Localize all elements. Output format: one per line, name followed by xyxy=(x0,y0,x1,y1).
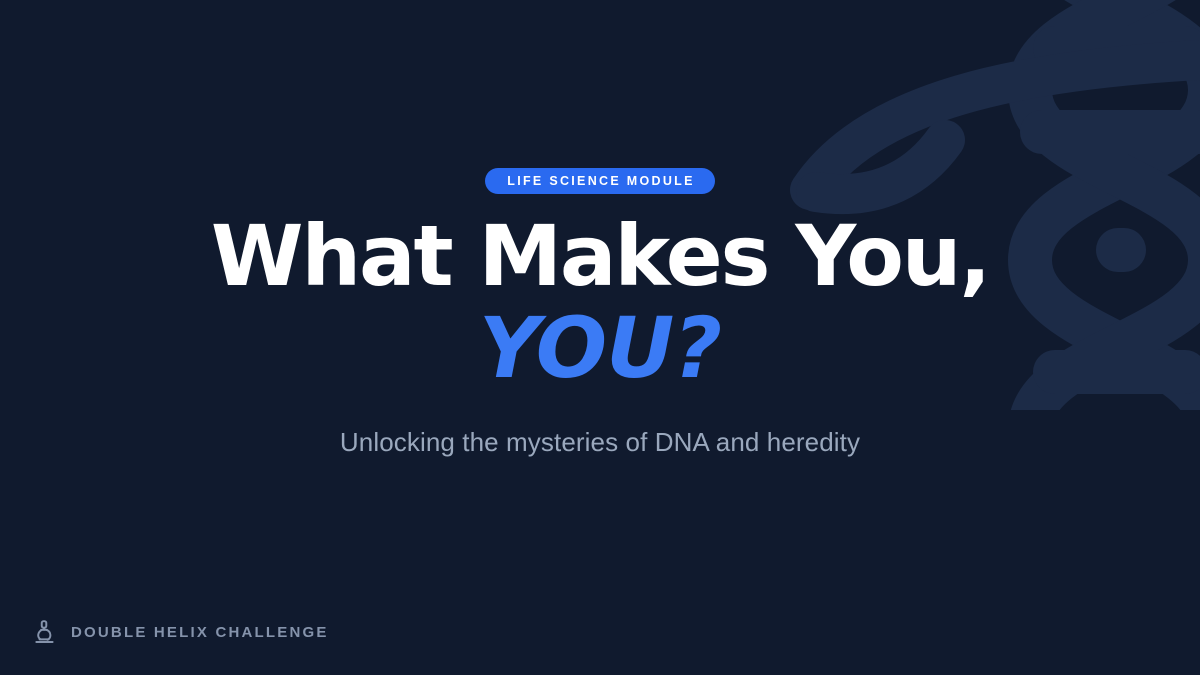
footer-brand-label: DOUBLE HELIX CHALLENGE xyxy=(71,625,329,640)
slide-content: LIFE SCIENCE MODULE What Makes You, YOU?… xyxy=(0,0,1200,675)
subtitle: Unlocking the mysteries of DNA and hered… xyxy=(340,426,860,460)
module-badge: LIFE SCIENCE MODULE xyxy=(485,168,714,195)
footer-brand: DOUBLE HELIX CHALLENGE xyxy=(32,619,329,645)
title-line-2-accent: YOU? xyxy=(211,306,989,392)
title-slide: LIFE SCIENCE MODULE What Makes You, YOU?… xyxy=(0,0,1200,675)
microscope-icon xyxy=(32,619,58,645)
title-line-1: What Makes You, xyxy=(211,214,989,300)
page-title: What Makes You, YOU? xyxy=(211,214,989,391)
